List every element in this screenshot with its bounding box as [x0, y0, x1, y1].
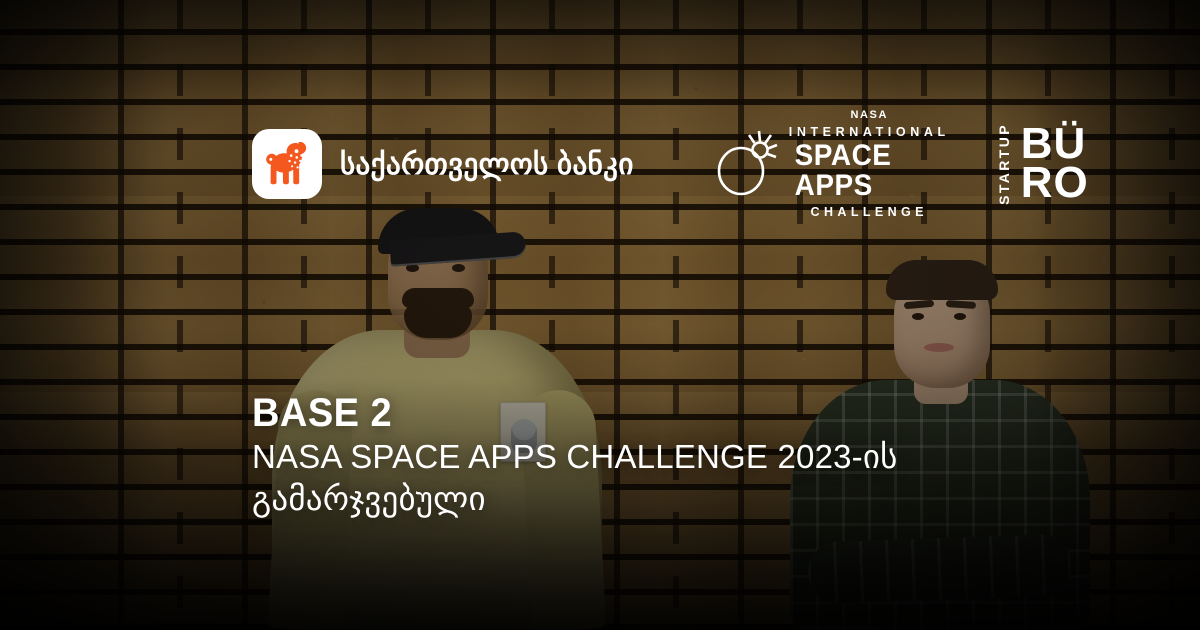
- nasa-space-apps-wordmark: NASA INTERNATIONAL SPACE APPS CHALLENGE: [789, 110, 950, 219]
- startup-buro-wordmark: BÜ RO: [1021, 125, 1089, 202]
- headline-kicker: BASE 2: [252, 392, 974, 435]
- startup-buro-startup-label: STARTUP: [996, 123, 1012, 205]
- logo-bank-of-georgia[interactable]: საქართველოს ბანკი: [252, 129, 634, 199]
- nasa-label: NASA: [850, 110, 888, 121]
- nasa-international-label: INTERNATIONAL: [789, 126, 950, 139]
- bank-of-georgia-name: საქართველოს ბანკი: [340, 147, 634, 182]
- nasa-space-apps-circle-icon: [712, 129, 778, 199]
- logo-nasa-space-apps[interactable]: NASA INTERNATIONAL SPACE APPS CHALLENGE: [712, 110, 950, 219]
- bank-of-georgia-lion-icon: [252, 129, 322, 199]
- photo-vignette-overlay: [0, 0, 1200, 630]
- headline-block: BASE 2 NASA SPACE APPS CHALLENGE 2023-ის…: [252, 392, 1012, 520]
- headline-line-2: გამარჯვებული: [252, 479, 1012, 519]
- nasa-challenge-label: CHALLENGE: [811, 206, 928, 219]
- promo-banner: საქართველოს ბანკი NASA: [0, 0, 1200, 630]
- nasa-space-apps-label: SPACE APPS: [794, 141, 944, 201]
- startup-buro-line2: RO: [1021, 164, 1089, 203]
- headline-line-1: NASA SPACE APPS CHALLENGE 2023-ის: [252, 437, 1012, 477]
- sponsor-logo-row: საქართველოს ბანკი NASA: [252, 118, 972, 210]
- logo-startup-buro[interactable]: STARTUP BÜ RO: [996, 123, 1089, 205]
